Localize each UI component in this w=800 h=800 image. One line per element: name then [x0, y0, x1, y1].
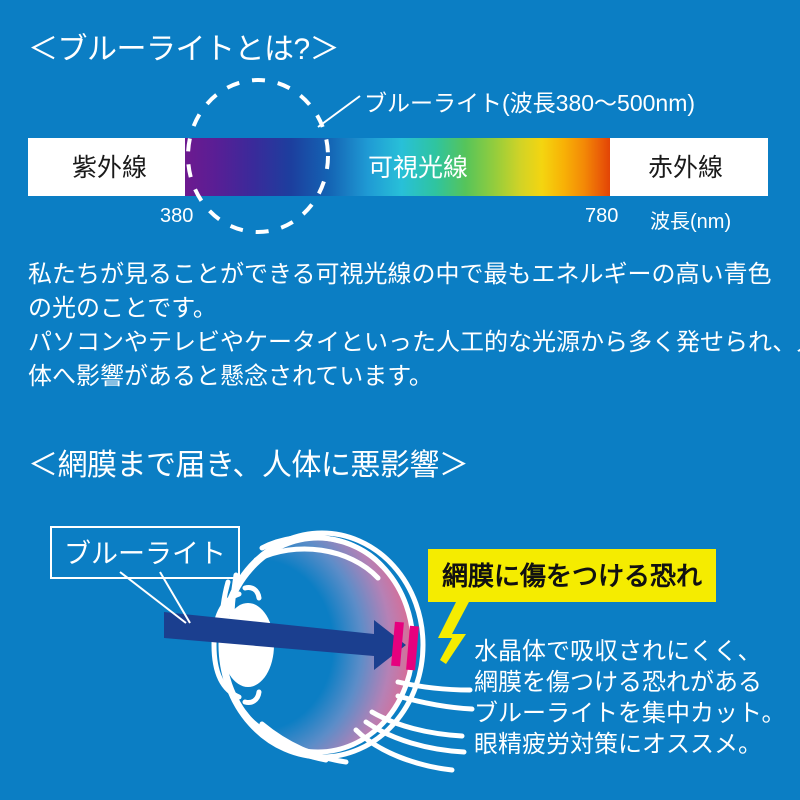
- spectrum-axis-value-780: 780: [585, 205, 618, 228]
- side-line-3: ブルーライトを集中カット。: [474, 698, 786, 729]
- blue-light-label-box: ブルーライト: [50, 526, 240, 579]
- section2-heading: ＜網膜まで届き、人体に悪影響＞: [28, 440, 468, 484]
- eye-muscle-strands: [234, 700, 346, 762]
- eyeball-interior: [223, 538, 413, 752]
- spectrum-label-ultraviolet: 紫外線: [72, 148, 147, 184]
- spectrum-label-infrared: 赤外線: [648, 148, 723, 184]
- spectrum-label-visible-light: 可視光線: [368, 148, 468, 184]
- lightning-bolt-icon: [438, 598, 470, 664]
- eye-lens: [222, 603, 274, 687]
- body-line-2: の光のことです。: [28, 292, 780, 326]
- infographic-page: ＜ブルーライトとは?＞ 紫外線 可視光線 赤外線 380 780 波長(nm) …: [0, 0, 800, 800]
- callout-leader-line: [318, 96, 360, 127]
- side-line-2: 網膜を傷つける恐れがある: [474, 667, 786, 698]
- optic-nerve-strands: [356, 682, 472, 770]
- body-line-3: パソコンやテレビやケータイといった人工的な光源から多く発せられ、人: [28, 326, 780, 360]
- spectrum-axis-unit-label: 波長(nm): [650, 205, 731, 234]
- section2-side-paragraph: 水晶体で吸収されにくく、 網膜を傷つける恐れがある ブルーライトを集中カット。 …: [474, 636, 786, 760]
- cornea-outline: [214, 587, 259, 702]
- retina-damage-marks: [391, 622, 419, 671]
- body-line-1: 私たちが見ることができる可視光線の中で最もエネルギーの高い青色: [28, 258, 780, 292]
- retina-damage-warning-badge: 網膜に傷をつける恐れ: [428, 549, 716, 602]
- eyeball-outline-strokes: [221, 533, 423, 757]
- section1-heading: ＜ブルーライトとは?＞: [28, 24, 339, 68]
- spectrum-bar-container: 紫外線 可視光線 赤外線: [28, 138, 768, 196]
- side-line-1: 水晶体で吸収されにくく、: [474, 636, 786, 667]
- spectrum-axis-value-380: 380: [160, 205, 193, 228]
- blue-light-arrow: [164, 612, 406, 670]
- blue-light-range-callout: ブルーライト(波長380〜500nm): [364, 84, 695, 118]
- section1-body-paragraph: 私たちが見ることができる可視光線の中で最もエネルギーの高い青色 の光のことです。…: [28, 258, 780, 394]
- body-line-4: 体へ影響があると懸念されています。: [28, 360, 780, 394]
- side-line-4: 眼精疲労対策にオススメ。: [474, 729, 786, 760]
- blue-light-label-leader: [120, 572, 190, 623]
